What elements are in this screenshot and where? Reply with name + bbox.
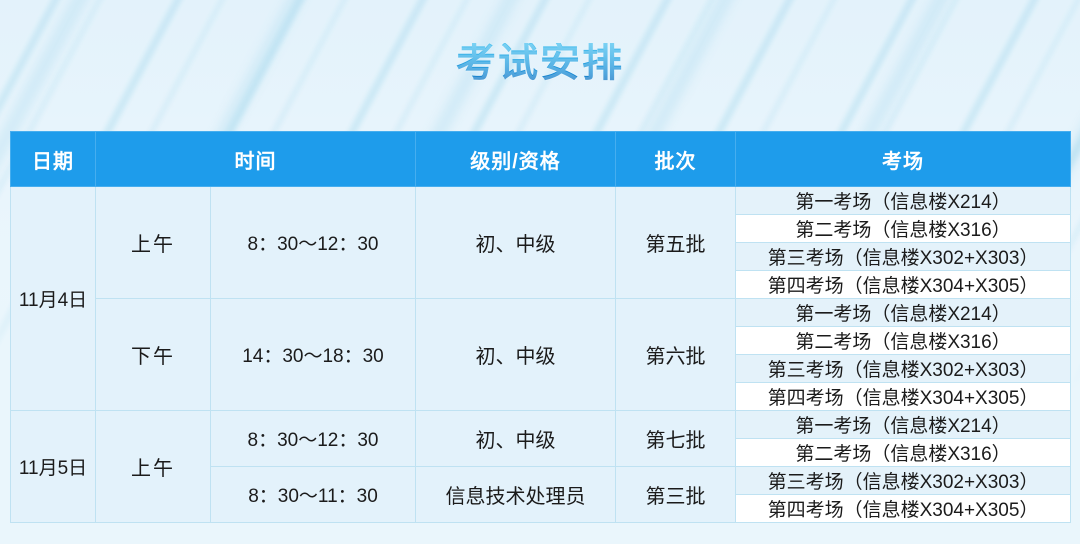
cell-batch: 第五批 xyxy=(616,187,736,299)
cell-batch: 第三批 xyxy=(616,467,736,523)
cell-room: 第四考场（信息楼X304+X305） xyxy=(736,495,1071,523)
cell-time: 8：30～11：30 xyxy=(211,467,416,523)
table-row: 11月5日 上午 8：30～12：30 初、中级 第七批 第一考场（信息楼X21… xyxy=(11,411,1071,439)
cell-batch: 第七批 xyxy=(616,411,736,467)
cell-time: 8：30～12：30 xyxy=(211,411,416,467)
column-header-level: 级别/资格 xyxy=(416,132,616,187)
cell-room: 第一考场（信息楼X214） xyxy=(736,187,1071,215)
cell-room: 第二考场（信息楼X316） xyxy=(736,327,1071,355)
table-row: 11月4日 上午 8：30～12：30 初、中级 第五批 第一考场（信息楼X21… xyxy=(11,187,1071,215)
cell-date: 11月5日 xyxy=(11,411,96,523)
cell-level: 信息技术处理员 xyxy=(416,467,616,523)
column-header-room: 考场 xyxy=(736,132,1071,187)
page-title: 考试安排 xyxy=(456,43,624,83)
table-header-row: 日期 时间 级别/资格 批次 考场 xyxy=(11,132,1071,187)
table-body: 11月4日 上午 8：30～12：30 初、中级 第五批 第一考场（信息楼X21… xyxy=(11,187,1071,523)
column-header-time: 时间 xyxy=(96,132,416,187)
cell-room: 第一考场（信息楼X214） xyxy=(736,411,1071,439)
exam-schedule-table: 日期 时间 级别/资格 批次 考场 11月4日 上午 8：30～12：30 初、… xyxy=(10,131,1071,523)
title-banner: 考试安排 xyxy=(0,0,1080,126)
cell-level: 初、中级 xyxy=(416,187,616,299)
cell-date: 11月4日 xyxy=(11,187,96,411)
column-header-date: 日期 xyxy=(11,132,96,187)
cell-period: 上午 xyxy=(96,187,211,299)
cell-batch: 第六批 xyxy=(616,299,736,411)
cell-room: 第三考场（信息楼X302+X303） xyxy=(736,243,1071,271)
cell-room: 第二考场（信息楼X316） xyxy=(736,439,1071,467)
cell-room: 第二考场（信息楼X316） xyxy=(736,215,1071,243)
cell-level: 初、中级 xyxy=(416,299,616,411)
cell-time: 8：30～12：30 xyxy=(211,187,416,299)
cell-level: 初、中级 xyxy=(416,411,616,467)
table-header: 日期 时间 级别/资格 批次 考场 xyxy=(11,132,1071,187)
cell-room: 第四考场（信息楼X304+X305） xyxy=(736,383,1071,411)
cell-room: 第三考场（信息楼X302+X303） xyxy=(736,355,1071,383)
column-header-batch: 批次 xyxy=(616,132,736,187)
cell-room: 第四考场（信息楼X304+X305） xyxy=(736,271,1071,299)
table-row: 下午 14：30～18：30 初、中级 第六批 第一考场（信息楼X214） xyxy=(11,299,1071,327)
cell-period: 上午 xyxy=(96,411,211,523)
cell-room: 第三考场（信息楼X302+X303） xyxy=(736,467,1071,495)
cell-time: 14：30～18：30 xyxy=(211,299,416,411)
cell-period: 下午 xyxy=(96,299,211,411)
cell-room: 第一考场（信息楼X214） xyxy=(736,299,1071,327)
